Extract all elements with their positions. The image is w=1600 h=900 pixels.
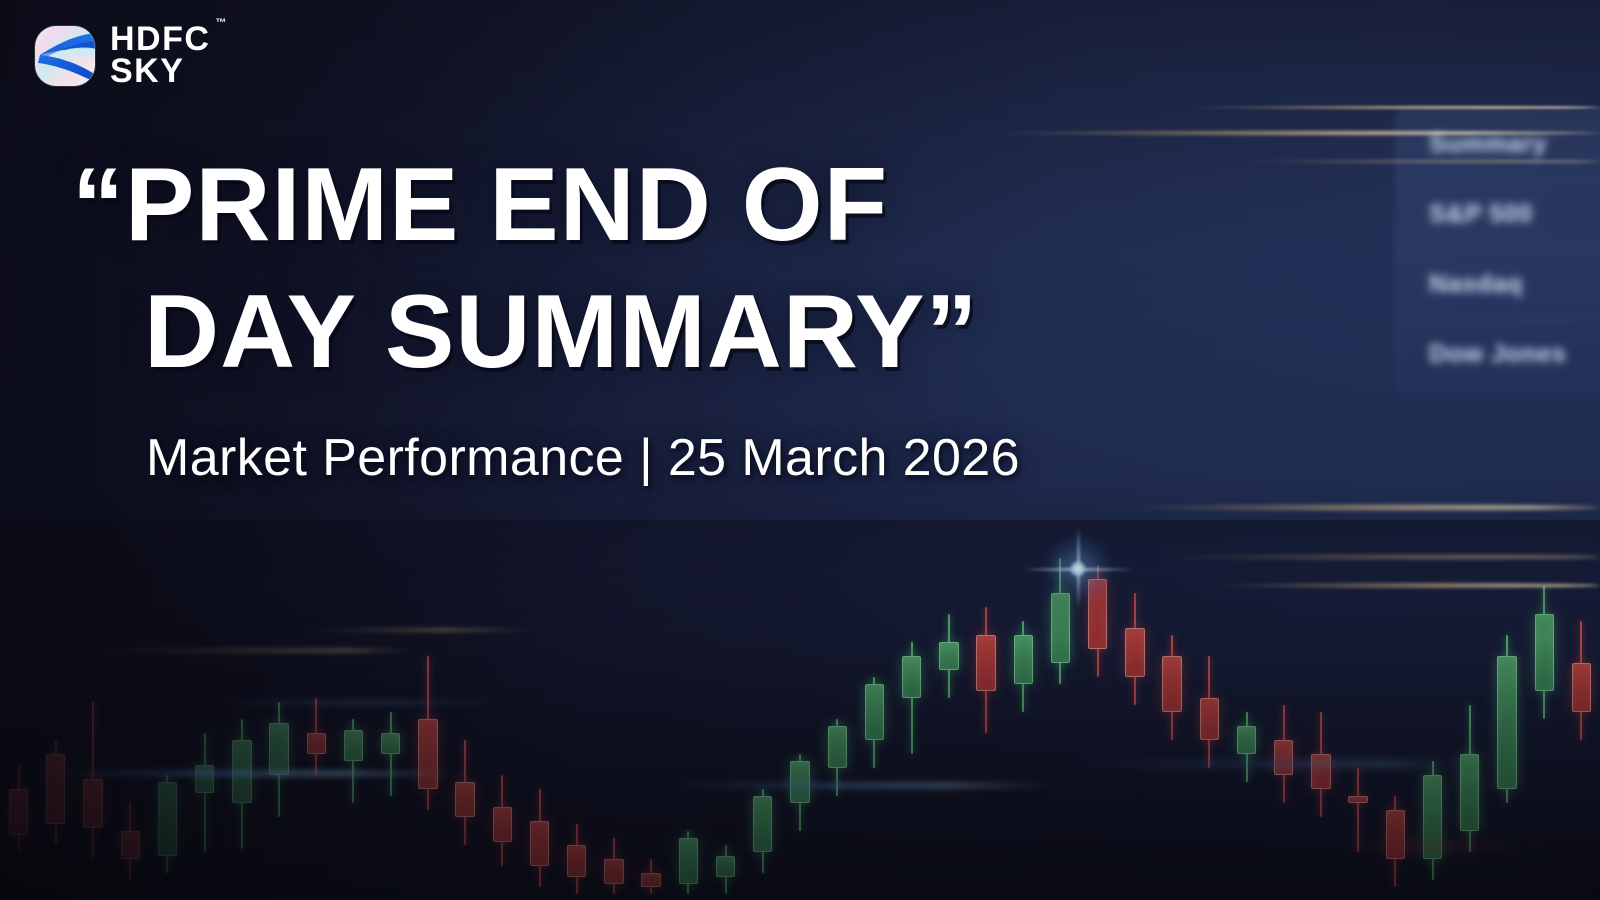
hdfc-sky-logo-icon — [34, 25, 96, 87]
panel-row[interactable]: Nasdaq — [1397, 249, 1600, 319]
trademark-symbol: ™ — [215, 18, 226, 28]
headline-line-2: DAY SUMMARY” — [144, 269, 1272, 396]
promo-banner: SummaryS&P 500NasdaqDow Jones — [0, 0, 1600, 900]
panel-row-label: S&P 500 — [1429, 200, 1533, 229]
panel-row-label: Dow Jones — [1429, 340, 1566, 369]
panel-row-label: Nasdaq — [1429, 270, 1523, 299]
page-subtitle: Market Performance | 25 March 2026 — [146, 428, 1020, 488]
brand-name-line2: SKY — [110, 56, 210, 88]
panel-row[interactable]: Dow Jones — [1397, 319, 1600, 389]
panel-row[interactable]: S&P 500 — [1397, 179, 1600, 249]
headline-line-1: “PRIME END OF — [72, 142, 1272, 269]
panel-row[interactable]: Summary — [1397, 109, 1600, 179]
page-title: “PRIME END OF DAY SUMMARY” — [72, 142, 1272, 396]
index-summary-panel[interactable]: SummaryS&P 500NasdaqDow Jones — [1396, 108, 1600, 393]
panel-row-label: Summary — [1429, 130, 1547, 159]
brand-logo[interactable]: HDFC SKY ™ — [34, 24, 210, 88]
